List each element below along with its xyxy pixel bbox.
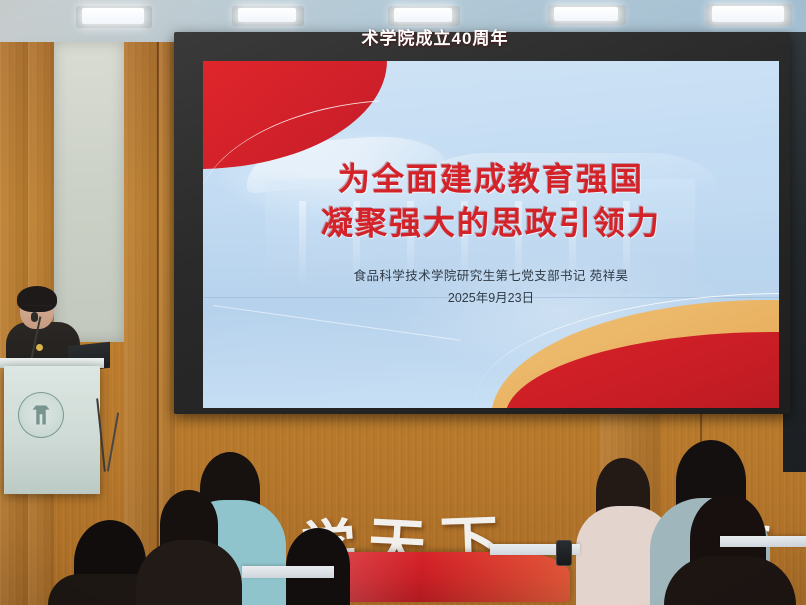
speaker-glasses (22, 305, 52, 313)
presentation-slide[interactable]: 为全面建成教育强国 凝聚强大的思政引领力 食品科学技术学院研究生第七党支部书记 … (203, 61, 779, 408)
audience-desk-left (242, 566, 334, 578)
university-emblem-icon (18, 392, 64, 438)
audience-phone (556, 540, 572, 566)
slide-title-line-1: 为全面建成教育强国 (203, 157, 779, 201)
ceiling-light-2 (238, 8, 296, 22)
slide-title-line-2: 凝聚强大的思政引领力 (203, 201, 779, 245)
ceiling-light-3 (394, 8, 452, 22)
speaker-lapel-pin (36, 344, 43, 351)
anniversary-banner-text: 术学院成立40周年 (300, 24, 570, 49)
ceiling-light-4 (554, 7, 618, 21)
slide-title: 为全面建成教育强国 凝聚强大的思政引领力 (203, 157, 779, 245)
ceiling-light-5 (712, 6, 784, 22)
audience-desk-right (720, 536, 806, 547)
wall-plank-3 (124, 42, 158, 605)
ceiling-light-1 (82, 8, 144, 24)
microphone-head (31, 312, 38, 322)
slide-presenter-line: 食品科学技术学院研究生第七党支部书记 苑祥昊 (203, 265, 779, 287)
slide-date-line: 2025年9月23日 (203, 287, 779, 309)
slide-subtitle-block: 食品科学技术学院研究生第七党支部书记 苑祥昊 2025年9月23日 (203, 265, 779, 309)
lecture-hall-photo: 为全面建成教育强国 凝聚强大的思政引领力 食品科学技术学院研究生第七党支部书记 … (0, 0, 806, 605)
acoustic-wall-panel-left (54, 42, 124, 342)
